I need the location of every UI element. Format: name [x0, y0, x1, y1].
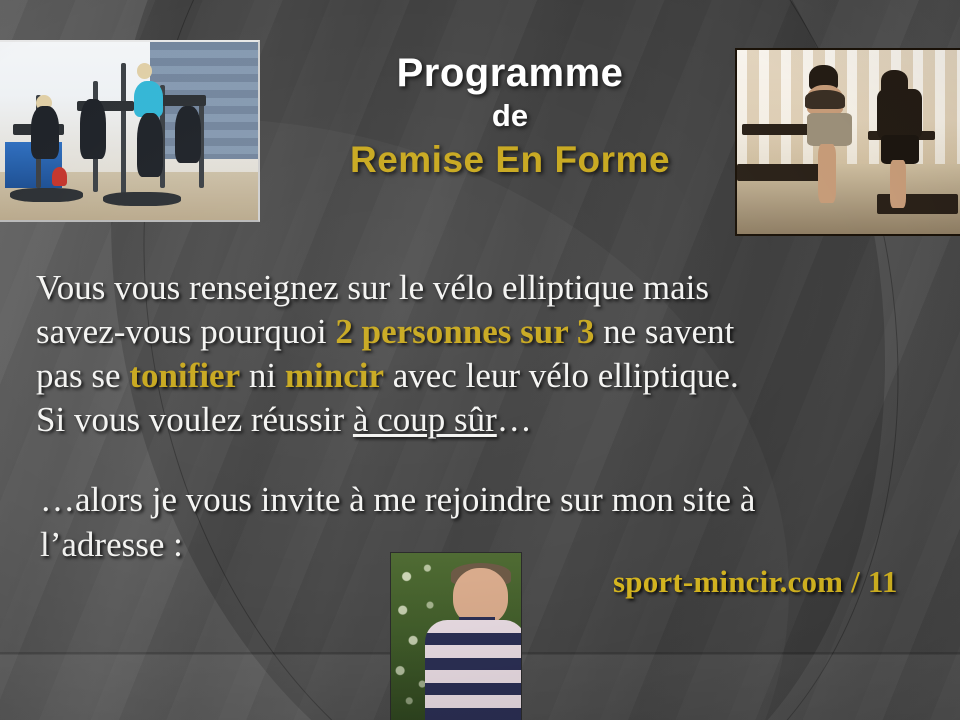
presenter-striped-polo	[425, 620, 522, 720]
woman-top	[805, 90, 846, 108]
photo-gym-treadmill-couple	[735, 48, 960, 236]
paragraph-one-line-1: Vous vous renseignez sur le vélo ellipti…	[36, 266, 960, 310]
woman-legs	[818, 144, 836, 203]
paragraph-two-line-1: …alors je vous invite à me rejoindre sur…	[40, 477, 960, 522]
highlight-2-personnes-sur-3: 2 personnes sur 3	[335, 312, 594, 351]
photo-presenter-portrait	[390, 552, 522, 720]
presentation-slide: Programme de Remise En Forme Vous vous r…	[0, 0, 960, 720]
website-url: sport-mincir.com / 11	[613, 564, 898, 600]
text-seg-1: Vous vous renseignez sur le vélo ellipti…	[36, 268, 709, 307]
gym-machine-base-2	[103, 192, 180, 206]
slide-heading: Programme de Remise En Forme	[300, 52, 720, 179]
paragraph-one-line-3: pas se tonifier ni mincir avec leur vélo…	[36, 354, 960, 398]
heading-line-2: de	[300, 100, 720, 133]
paragraph-one: Vous vous renseignez sur le vélo ellipti…	[36, 266, 960, 442]
text-seg-7: Si vous voulez réussir	[36, 400, 353, 439]
text-seg-3: ne savent	[594, 312, 734, 351]
gym-person-2	[80, 99, 106, 160]
gym-window-curtain	[737, 50, 960, 164]
man-legs	[890, 160, 906, 208]
heading-line-3: Remise En Forme	[300, 140, 720, 179]
paragraph-one-line-2: savez-vous pourquoi 2 personnes sur 3 ne…	[36, 310, 960, 354]
woman-shorts	[807, 113, 852, 146]
gym-person-1	[31, 106, 59, 159]
highlight-mincir: mincir	[285, 356, 384, 395]
gym-treadmill-artwork	[737, 50, 960, 234]
text-seg-6: avec leur vélo elliptique.	[384, 356, 739, 395]
paragraph-one-line-4: Si vous voulez réussir à coup sûr…	[36, 398, 960, 442]
heading-line-1: Programme	[300, 52, 720, 94]
text-seg-5: ni	[240, 356, 285, 395]
highlight-tonifier: tonifier	[129, 356, 240, 395]
man-shirt	[877, 89, 922, 141]
text-seg-8: …	[497, 400, 532, 439]
gym-machine-pole-3	[121, 63, 126, 195]
gym-person-3	[137, 113, 163, 177]
photo-gym-ellipticals	[0, 40, 260, 222]
treadmill-deck-right	[877, 194, 958, 214]
gym-person-4	[175, 106, 201, 163]
gym-person-teal-top	[134, 81, 162, 117]
gym-red-object	[52, 167, 67, 187]
gym-machine-base-1	[10, 188, 82, 202]
underlined-a-coup-sur: à coup sûr	[353, 400, 497, 439]
text-seg-4: pas se	[36, 356, 129, 395]
presenter-portrait-artwork	[391, 553, 521, 720]
gym-ellipticals-artwork	[0, 42, 258, 220]
text-seg-2: savez-vous pourquoi	[36, 312, 335, 351]
